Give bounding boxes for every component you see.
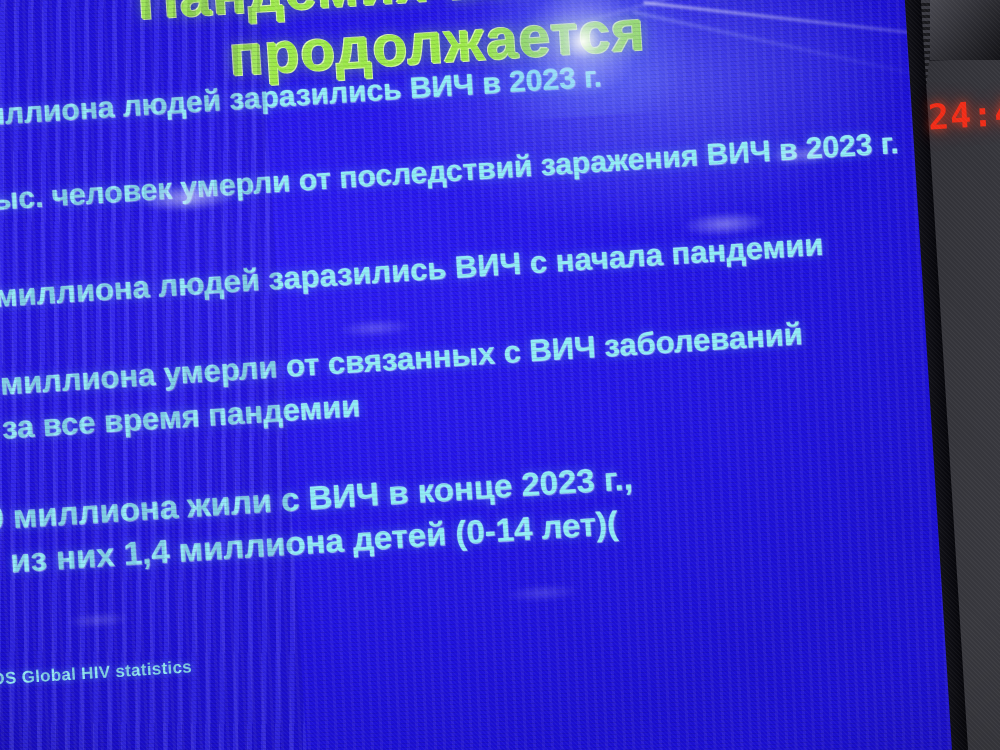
slide-source-note: UNAIDS Global HIV statistics xyxy=(0,657,193,692)
slide-bullet-2: 630 тыс. человек умерли от последствий з… xyxy=(0,127,900,223)
screen-surface: Пандемия ВИЧ/СПИД продолжается 1,3 милли… xyxy=(0,0,958,750)
photo-frame: Пандемия ВИЧ/СПИД продолжается 1,3 милли… xyxy=(0,0,1000,750)
slide-bullet-4: 42,3 миллиона умерли от связанных с ВИЧ … xyxy=(0,316,804,407)
presentation-screen: Пандемия ВИЧ/СПИД продолжается 1,3 милли… xyxy=(0,0,1000,750)
countdown-timer: 24:4 xyxy=(927,93,1000,138)
slide-bullet-3: 88,4 миллиона людей заразились ВИЧ с нач… xyxy=(0,227,824,319)
slide-content: Пандемия ВИЧ/СПИД продолжается 1,3 милли… xyxy=(0,0,958,750)
